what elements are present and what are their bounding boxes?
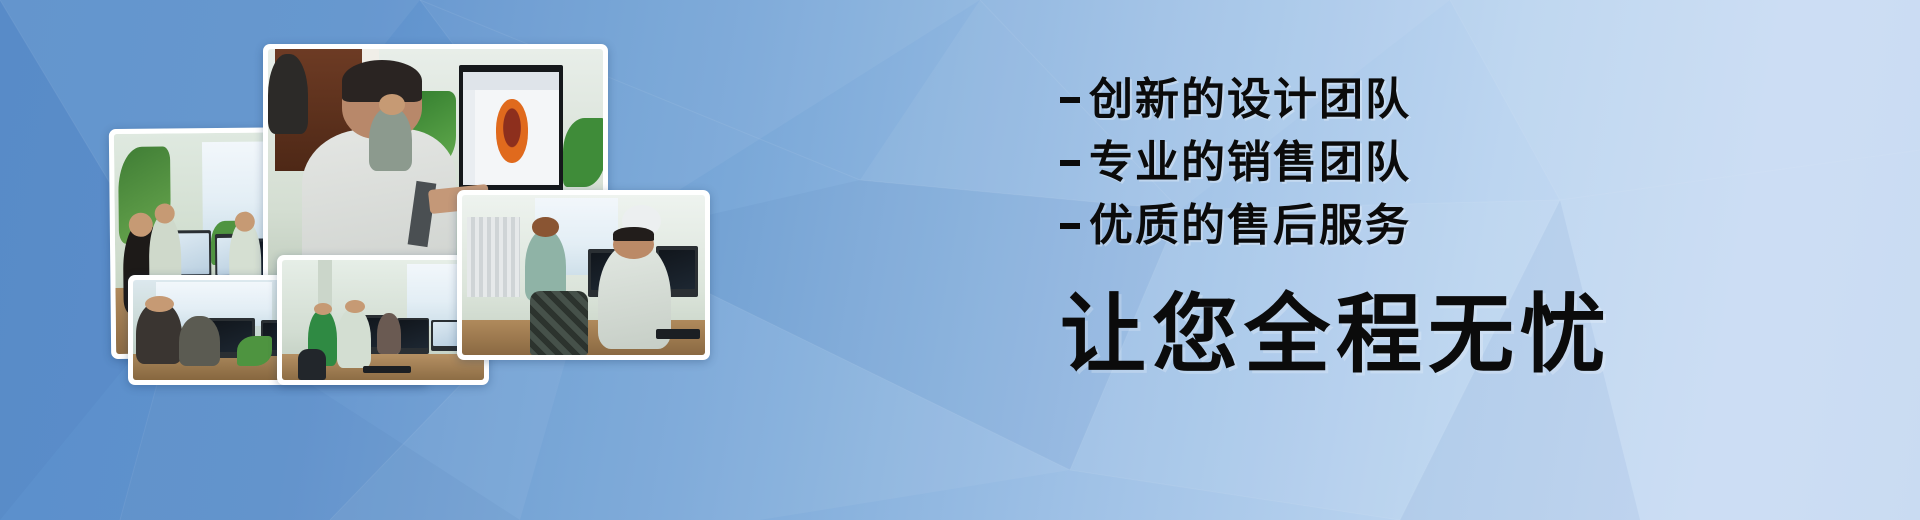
photo-collage: [0, 0, 900, 520]
dash-icon: [1060, 160, 1080, 166]
benefit-item-sales-team: 专业的销售团队: [1060, 131, 1880, 194]
dash-icon: [1060, 97, 1080, 103]
benefit-label: 创新的设计团队: [1089, 68, 1411, 131]
benefit-label: 优质的售后服务: [1089, 194, 1411, 257]
promo-banner: 创新的设计团队 专业的销售团队 优质的售后服务 让您全程无忧: [0, 0, 1920, 520]
benefit-item-design-team: 创新的设计团队: [1060, 68, 1880, 131]
benefit-list: 创新的设计团队 专业的销售团队 优质的售后服务: [1060, 68, 1880, 257]
benefit-item-after-sales: 优质的售后服务: [1060, 194, 1880, 257]
benefit-label: 专业的销售团队: [1089, 131, 1411, 194]
headline: 让您全程无忧: [1060, 287, 1880, 383]
dash-icon: [1060, 223, 1080, 229]
collage-photo-designer-at-desk: [457, 190, 710, 360]
banner-copy: 创新的设计团队 专业的销售团队 优质的售后服务 让您全程无忧: [1060, 68, 1880, 383]
